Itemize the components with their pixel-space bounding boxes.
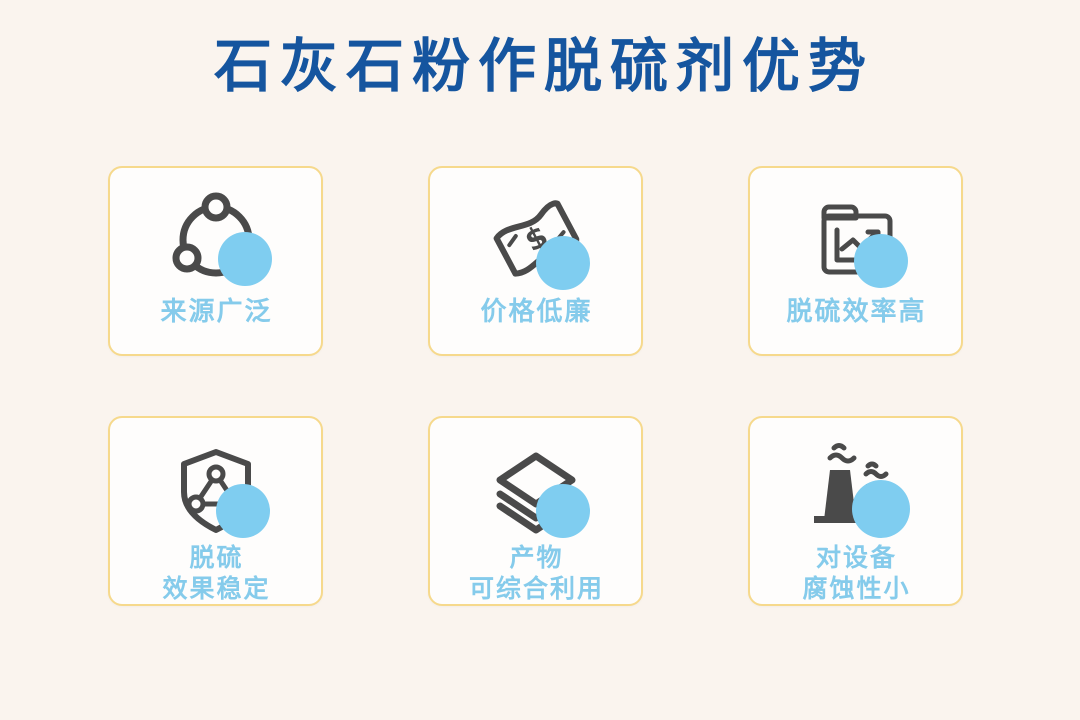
label-line-1: 产物 (509, 543, 563, 572)
accent-circle (216, 484, 270, 538)
advantage-card-label: 价格低廉 (478, 296, 592, 329)
advantage-card-6[interactable]: 对设备 腐蚀性小 (748, 416, 963, 606)
advantage-card-3[interactable]: 脱硫效率高 (748, 166, 963, 356)
advantage-card-1[interactable]: 来源广泛 (108, 166, 323, 356)
label-line-1: 脱硫效率高 (786, 297, 926, 327)
icon-area: $ (480, 190, 592, 290)
title-bar: 石灰石粉作脱硫剂优势 (0, 0, 1080, 97)
accent-circle (536, 236, 590, 290)
advantage-card-5[interactable]: 产物 可综合利用 (428, 416, 643, 606)
label-line-2: 效果稳定 (160, 573, 270, 604)
label-line-1: 价格低廉 (480, 297, 592, 327)
icon-area (800, 440, 912, 540)
label-line-2: 腐蚀性小 (800, 573, 910, 604)
advantage-card-4[interactable]: 脱硫 效果稳定 (108, 416, 323, 606)
icon-area (800, 190, 912, 290)
label-line-1: 对设备 (816, 543, 897, 572)
accent-circle (854, 234, 908, 288)
advantage-card-label: 产物 可综合利用 (467, 542, 604, 605)
advantage-card-label: 对设备 腐蚀性小 (800, 542, 910, 605)
page-title: 石灰石粉作脱硫剂优势 (206, 36, 874, 97)
accent-circle (536, 484, 590, 538)
accent-circle (218, 232, 272, 286)
advantage-card-label: 脱硫 效果稳定 (160, 542, 270, 605)
advantages-grid: 来源广泛 $ 价格低廉 (108, 166, 972, 606)
label-line-1: 来源广泛 (160, 297, 272, 327)
advantage-card-2[interactable]: $ 价格低廉 (428, 166, 643, 356)
label-line-1: 脱硫 (189, 543, 243, 572)
advantage-card-label: 脱硫效率高 (784, 296, 926, 329)
advantage-card-label: 来源广泛 (158, 296, 272, 329)
label-line-2: 可综合利用 (467, 573, 604, 604)
icon-area (160, 440, 272, 540)
icon-area (480, 440, 592, 540)
icon-area (160, 190, 272, 290)
accent-circle (852, 480, 910, 538)
